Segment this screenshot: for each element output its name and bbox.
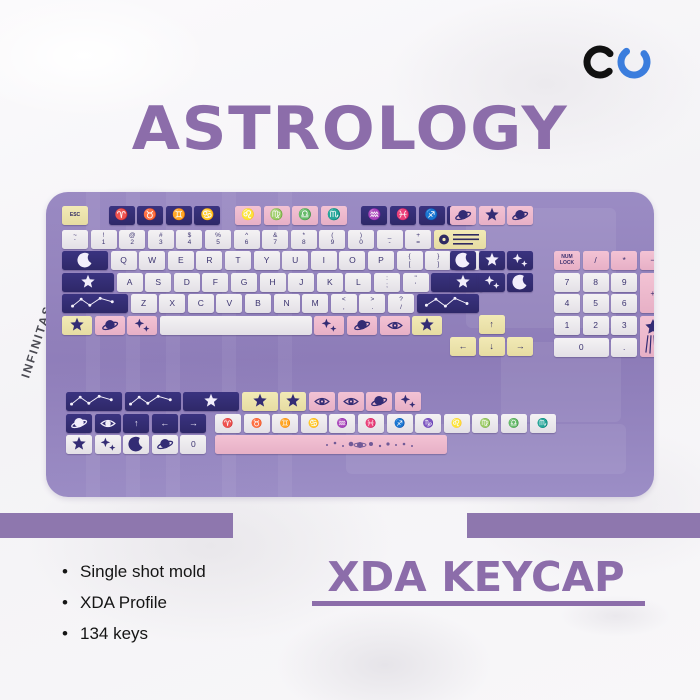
key-fn-7[interactable]: ♎	[292, 206, 318, 225]
key-legend: <,	[342, 296, 346, 311]
key-f[interactable]: F	[202, 273, 228, 292]
key-legend: W	[148, 256, 156, 265]
key-caps-star[interactable]	[62, 273, 114, 292]
key-numpad-7[interactable]: 7	[554, 273, 580, 292]
key-numpad-op-1[interactable]: *	[611, 251, 637, 270]
decorative-bar-right	[467, 513, 700, 538]
key-fn-4[interactable]: ♋	[194, 206, 220, 225]
page-title: ASTROLOGY	[0, 98, 700, 160]
zodiac-glyph: ♎	[298, 210, 312, 221]
key-legend: M	[312, 299, 319, 308]
key-arrow-right[interactable]: →	[507, 337, 533, 356]
key-legend: 4	[565, 299, 570, 308]
key-d[interactable]: D	[174, 273, 200, 292]
key-num-10[interactable]: )0	[348, 230, 374, 249]
key-num-3[interactable]: #3	[148, 230, 174, 249]
zodiac-glyph: ♐	[394, 419, 405, 428]
key-extra-a-3[interactable]	[242, 392, 278, 411]
key-t[interactable]: T	[225, 251, 251, 270]
key-b[interactable]: B	[245, 294, 271, 313]
key-num-11[interactable]: _-	[377, 230, 403, 249]
key-legend: 1	[565, 321, 570, 330]
key-legend: 6	[622, 299, 627, 308]
key-k[interactable]: K	[317, 273, 343, 292]
key-qwerty-tail-0[interactable]: {[	[397, 251, 423, 270]
key-legend: V	[227, 299, 233, 308]
key-legend: B	[255, 299, 261, 308]
key-legend: 0	[579, 343, 584, 352]
key-numpad-9[interactable]: 9	[611, 273, 637, 292]
key-numpad-dot[interactable]: .	[611, 338, 637, 357]
key-legend: *	[623, 256, 626, 265]
key-z[interactable]: Z	[131, 294, 157, 313]
zodiac-glyph: ♈	[222, 419, 233, 428]
zodiac-glyph: ♎	[508, 419, 519, 428]
zodiac-glyph: ♍	[270, 210, 284, 221]
key-spacebar-main[interactable]	[160, 316, 312, 335]
key-n[interactable]: N	[274, 294, 300, 313]
key-legend: /	[594, 256, 596, 265]
key-legend: {[	[409, 253, 411, 268]
key-extra-c-4[interactable]: 0	[180, 435, 206, 454]
key-extra-b-2[interactable]: ↑	[123, 414, 149, 433]
zodiac-glyph: ♌	[241, 210, 255, 221]
key-x[interactable]: X	[159, 294, 185, 313]
key-legend: 9	[622, 278, 627, 287]
key-legend: R	[206, 256, 212, 265]
key-num-2[interactable]: @2	[119, 230, 145, 249]
key-legend: :;	[386, 275, 388, 290]
zodiac-glyph: ♋	[308, 419, 319, 428]
key-nav-top-0[interactable]	[450, 206, 476, 225]
key-c[interactable]: C	[188, 294, 214, 313]
key-legend: >.	[370, 296, 374, 311]
key-num-9[interactable]: (9	[319, 230, 345, 249]
key-legend: +=	[416, 232, 420, 247]
key-fn-3[interactable]: ♊	[166, 206, 192, 225]
key-legend: Z	[141, 299, 146, 308]
key-legend: F	[213, 278, 218, 287]
arrow-left-icon: ←	[459, 342, 468, 351]
keycap-set: ESC♈♉♊♋♌♍♎♏♒♓♐♑~`!1@2#3$4%5^6&7*8(9)0_-+…	[62, 206, 640, 483]
zodiac-glyph: ♈	[115, 210, 129, 221]
key-nav-bot-0[interactable]	[450, 273, 476, 292]
key-legend: −	[650, 256, 654, 265]
zodiac-glyph: ♉	[143, 210, 157, 221]
key-fn-11[interactable]: ♐	[419, 206, 445, 225]
key-zxcv-tail-1[interactable]: >.	[359, 294, 385, 313]
arrow-left-icon: ←	[160, 419, 169, 428]
key-fn-9[interactable]: ♒	[361, 206, 387, 225]
key-fn-5[interactable]: ♌	[235, 206, 261, 225]
key-legend: J	[299, 278, 303, 287]
key-e[interactable]: E	[168, 251, 194, 270]
key-j[interactable]: J	[288, 273, 314, 292]
key-legend: 8	[593, 278, 598, 287]
key-label: NUMLOCK	[560, 255, 574, 266]
zodiac-glyph: ♍	[480, 419, 491, 428]
key-extra-b-1[interactable]	[95, 414, 121, 433]
key-legend: }]	[437, 253, 439, 268]
key-backspace[interactable]	[434, 230, 486, 249]
key-fn-10[interactable]: ♓	[390, 206, 416, 225]
key-extra-zodiac-1[interactable]: ♉	[244, 414, 270, 433]
key-nav-mid-0[interactable]	[450, 251, 476, 270]
key-extra-zodiac-5[interactable]: ♓	[358, 414, 384, 433]
key-qwerty-tail-1[interactable]: }]	[425, 251, 451, 270]
list-item: 134 keys	[58, 618, 358, 649]
key-extra-zodiac-0[interactable]: ♈	[215, 414, 241, 433]
key-legend: 2	[593, 321, 598, 330]
key-extra-b-3[interactable]: ←	[152, 414, 178, 433]
key-y[interactable]: Y	[254, 251, 280, 270]
key-legend: H	[270, 278, 276, 287]
key-numpad-8[interactable]: 8	[583, 273, 609, 292]
key-num-4[interactable]: $4	[176, 230, 202, 249]
arrow-right-icon: →	[189, 419, 198, 428]
key-nav-mid-2[interactable]	[507, 251, 533, 270]
key-extra-c-2[interactable]	[123, 435, 149, 454]
zodiac-glyph: ♊	[172, 210, 186, 221]
key-s[interactable]: S	[145, 273, 171, 292]
key-tab-moon[interactable]	[62, 251, 108, 270]
key-num-5[interactable]: %5	[205, 230, 231, 249]
key-num-8[interactable]: *8	[291, 230, 317, 249]
key-extra-zodiac-9[interactable]: ♍	[472, 414, 498, 433]
key-extra-a-6[interactable]	[338, 392, 364, 411]
key-h[interactable]: H	[260, 273, 286, 292]
key-legend: K	[327, 278, 333, 287]
key-legend: U	[292, 256, 298, 265]
key-extra-zodiac-7[interactable]: ♑	[415, 414, 441, 433]
zodiac-glyph: ♒	[337, 419, 348, 428]
key-v[interactable]: V	[216, 294, 242, 313]
key-extra-c-3[interactable]	[152, 435, 178, 454]
key-extra-zodiac-4[interactable]: ♒	[329, 414, 355, 433]
key-legend: )0	[359, 232, 363, 247]
key-extra-zodiac-6[interactable]: ♐	[387, 414, 413, 433]
key-num-7[interactable]: &7	[262, 230, 288, 249]
key-numpad-4[interactable]: 4	[554, 294, 580, 313]
key-extra-zodiac-10[interactable]: ♎	[501, 414, 527, 433]
key-extra-zodiac-3[interactable]: ♋	[301, 414, 327, 433]
key-legend: E	[178, 256, 184, 265]
key-nav-mid-1[interactable]	[479, 251, 505, 270]
key-ralt-sparkle[interactable]	[314, 316, 344, 335]
arrow-right-icon: →	[516, 342, 525, 351]
key-alt-sparkle[interactable]	[127, 316, 157, 335]
key-w[interactable]: W	[139, 251, 165, 270]
key-zxcv-tail-0[interactable]: <,	[331, 294, 357, 313]
key-fn-8[interactable]: ♏	[321, 206, 347, 225]
key-extra-zodiac-11[interactable]: ♏	[530, 414, 556, 433]
keyboard-photo-panel: ESC♈♉♊♋♌♍♎♏♒♓♐♑~`!1@2#3$4%5^6&7*8(9)0_-+…	[46, 192, 654, 497]
key-legend: G	[241, 278, 248, 287]
key-a[interactable]: A	[117, 273, 143, 292]
key-legend: L	[356, 278, 361, 287]
key-legend: &7	[273, 232, 277, 247]
zodiac-glyph: ♋	[201, 210, 215, 221]
zodiac-glyph: ♐	[425, 210, 439, 221]
key-g[interactable]: G	[231, 273, 257, 292]
key-legend: "'	[414, 275, 416, 290]
key-extra-zodiac-2[interactable]: ♊	[272, 414, 298, 433]
zodiac-glyph: ♏	[327, 210, 341, 221]
key-o[interactable]: O	[339, 251, 365, 270]
key-asdf-tail-1[interactable]: "'	[403, 273, 429, 292]
arrow-up-icon: ↑	[489, 320, 494, 329]
key-num-0[interactable]: ~`	[62, 230, 88, 249]
key-legend: 3	[622, 321, 627, 330]
zodiac-glyph: ♒	[368, 210, 382, 221]
key-fn-1[interactable]: ♈	[109, 206, 135, 225]
key-legend: (9	[331, 232, 335, 247]
key-arrow-up[interactable]: ↑	[479, 315, 505, 334]
key-num-1[interactable]: !1	[91, 230, 117, 249]
key-i[interactable]: I	[311, 251, 337, 270]
key-extra-c-0[interactable]	[66, 435, 92, 454]
key-legend: .	[623, 343, 625, 352]
key-asdf-tail-0[interactable]: :;	[374, 273, 400, 292]
key-extra-a-0[interactable]	[66, 392, 122, 411]
key-rwin-planet[interactable]	[347, 316, 377, 335]
key-legend: ^6	[245, 232, 249, 247]
key-arrow-left[interactable]: ←	[450, 337, 476, 356]
key-extra-a-4[interactable]	[280, 392, 306, 411]
key-rctrl-star[interactable]	[412, 316, 442, 335]
key-numlock[interactable]: NUMLOCK	[554, 251, 580, 270]
key-numpad-2[interactable]: 2	[583, 316, 609, 335]
key-nav-top-2[interactable]	[507, 206, 533, 225]
key-numpad-3[interactable]: 3	[611, 316, 637, 335]
arrow-up-icon: ↑	[134, 419, 139, 428]
key-numpad-6[interactable]: 6	[611, 294, 637, 313]
key-arrow-down[interactable]: ↓	[479, 337, 505, 356]
key-extra-a-2[interactable]	[183, 392, 239, 411]
key-shift-constellation[interactable]	[62, 294, 128, 313]
key-l[interactable]: L	[345, 273, 371, 292]
key-legend: X	[169, 299, 175, 308]
key-numpad-0[interactable]: 0	[554, 338, 609, 357]
key-legend: $4	[188, 232, 192, 247]
key-legend: O	[349, 256, 356, 265]
key-zxcv-tail-2[interactable]: ?/	[388, 294, 414, 313]
zodiac-glyph: ♊	[280, 419, 291, 428]
key-numpad-enter[interactable]	[640, 316, 654, 357]
key-numpad-op-0[interactable]: /	[583, 251, 609, 270]
key-fn-2[interactable]: ♉	[137, 206, 163, 225]
key-legend: I	[323, 256, 325, 265]
key-m[interactable]: M	[302, 294, 328, 313]
key-numpad-1[interactable]: 1	[554, 316, 580, 335]
key-extra-zodiac-8[interactable]: ♌	[444, 414, 470, 433]
subtitle-underline	[312, 601, 645, 606]
key-extra-b-4[interactable]: →	[180, 414, 206, 433]
key-num-6[interactable]: ^6	[234, 230, 260, 249]
key-fn-6[interactable]: ♍	[264, 206, 290, 225]
key-extra-a-5[interactable]	[309, 392, 335, 411]
key-legend: 7	[565, 278, 570, 287]
key-legend: C	[198, 299, 204, 308]
key-label: ESC	[70, 213, 80, 219]
key-nav-top-1[interactable]	[479, 206, 505, 225]
key-nav-bot-2[interactable]	[507, 273, 533, 292]
key-numpad-op-2[interactable]: −	[640, 251, 654, 270]
arrow-down-icon: ↓	[489, 342, 494, 351]
key-legend: %5	[215, 232, 221, 247]
key-extra-b-0[interactable]	[66, 414, 92, 433]
key-legend: Q	[120, 256, 127, 265]
key-extra-a-7[interactable]	[366, 392, 392, 411]
key-spacebar-pink[interactable]	[215, 435, 447, 454]
zodiac-glyph: ♌	[451, 419, 462, 428]
zodiac-glyph: ♑	[423, 419, 434, 428]
key-fn-eye[interactable]	[380, 316, 410, 335]
zodiac-glyph: ♓	[396, 210, 410, 221]
zodiac-glyph: ♓	[365, 419, 376, 428]
key-legend: ?/	[399, 296, 403, 311]
infinity-logo	[583, 40, 651, 84]
key-legend: D	[184, 278, 190, 287]
key-nav-bot-1[interactable]	[479, 273, 505, 292]
key-numpad-plus[interactable]: +	[640, 273, 654, 314]
key-legend: @2	[129, 232, 136, 247]
key-legend: P	[378, 256, 384, 265]
key-legend: 0	[191, 440, 196, 449]
key-legend: #3	[159, 232, 163, 247]
key-p[interactable]: P	[368, 251, 394, 270]
subtitle: XDA KEYCAP	[296, 554, 655, 600]
key-rshift-constellation[interactable]	[417, 294, 479, 313]
key-r[interactable]: R	[196, 251, 222, 270]
key-fn-0[interactable]: ESC	[62, 206, 88, 225]
key-legend: A	[127, 278, 133, 287]
zodiac-glyph: ♉	[251, 419, 262, 428]
key-legend: +	[650, 289, 654, 298]
key-legend: N	[284, 299, 290, 308]
key-win-planet[interactable]	[95, 316, 125, 335]
key-extra-a-1[interactable]	[125, 392, 181, 411]
key-u[interactable]: U	[282, 251, 308, 270]
key-q[interactable]: Q	[111, 251, 137, 270]
zodiac-glyph: ♏	[537, 419, 548, 428]
key-extra-a-8[interactable]	[395, 392, 421, 411]
key-num-12[interactable]: +=	[405, 230, 431, 249]
key-legend: *8	[302, 232, 306, 247]
key-legend: Y	[264, 256, 270, 265]
key-legend: T	[235, 256, 240, 265]
key-legend: _-	[388, 232, 392, 247]
key-extra-c-1[interactable]	[95, 435, 121, 454]
key-legend: S	[155, 278, 161, 287]
key-legend: !1	[102, 232, 106, 247]
decorative-bar-left	[0, 513, 233, 538]
key-legend: ~`	[73, 232, 77, 247]
key-ctrl-star[interactable]	[62, 316, 92, 335]
key-legend: 5	[593, 299, 598, 308]
key-numpad-5[interactable]: 5	[583, 294, 609, 313]
